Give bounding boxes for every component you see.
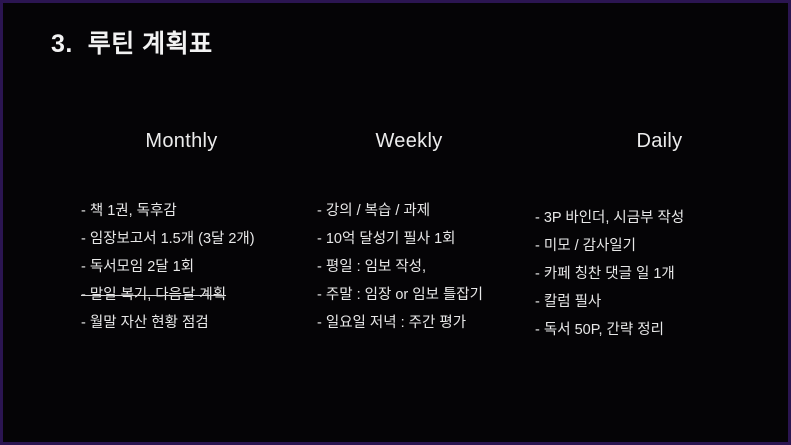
list-weekly: - 강의 / 복습 / 과제 - 10억 달성기 필사 1회 - 평일 : 임보…: [305, 197, 511, 337]
list-item: - 임장보고서 1.5개 (3달 2개): [69, 225, 276, 253]
list-item: - 강의 / 복습 / 과제: [305, 197, 511, 225]
list-item: - 3P 바인더, 시금부 작성: [535, 204, 742, 232]
list-item: - 독서모임 2달 1회: [69, 253, 276, 281]
column-weekly: Weekly - 강의 / 복습 / 과제 - 10억 달성기 필사 1회 - …: [301, 131, 511, 337]
list-item: - 일요일 저녁 : 주간 평가: [305, 309, 511, 337]
column-header-monthly: Monthly: [61, 131, 276, 151]
list-item: - 10억 달성기 필사 1회: [305, 225, 511, 253]
column-monthly: Monthly - 책 1권, 독후감 - 임장보고서 1.5개 (3달 2개)…: [61, 131, 276, 337]
slide-canvas: 3. 루틴 계획표 Monthly - 책 1권, 독후감 - 임장보고서 1.…: [0, 0, 791, 445]
list-item: - 월말 자산 현황 점검: [69, 309, 276, 337]
list-item: - 칼럼 필사: [535, 288, 742, 316]
column-daily: Daily - 3P 바인더, 시금부 작성 - 미모 / 감사일기 - 카페 …: [527, 131, 742, 344]
list-item: - 주말 : 임장 or 임보 틀잡기: [305, 281, 511, 309]
list-item: - 말일 복기, 다음달 계획: [69, 281, 276, 309]
list-item: - 독서 50P, 간략 정리: [535, 316, 742, 344]
column-header-weekly: Weekly: [301, 131, 511, 151]
list-item: - 책 1권, 독후감: [69, 197, 276, 225]
list-daily: - 3P 바인더, 시금부 작성 - 미모 / 감사일기 - 카페 칭찬 댓글 …: [535, 204, 742, 344]
column-header-daily: Daily: [527, 131, 742, 151]
page-title: 3. 루틴 계획표: [51, 24, 213, 60]
list-item: - 카페 칭찬 댓글 일 1개: [535, 260, 742, 288]
list-monthly: - 책 1권, 독후감 - 임장보고서 1.5개 (3달 2개) - 독서모임 …: [69, 197, 276, 337]
list-item: - 평일 : 임보 작성,: [305, 253, 511, 281]
list-item: - 미모 / 감사일기: [535, 232, 742, 260]
